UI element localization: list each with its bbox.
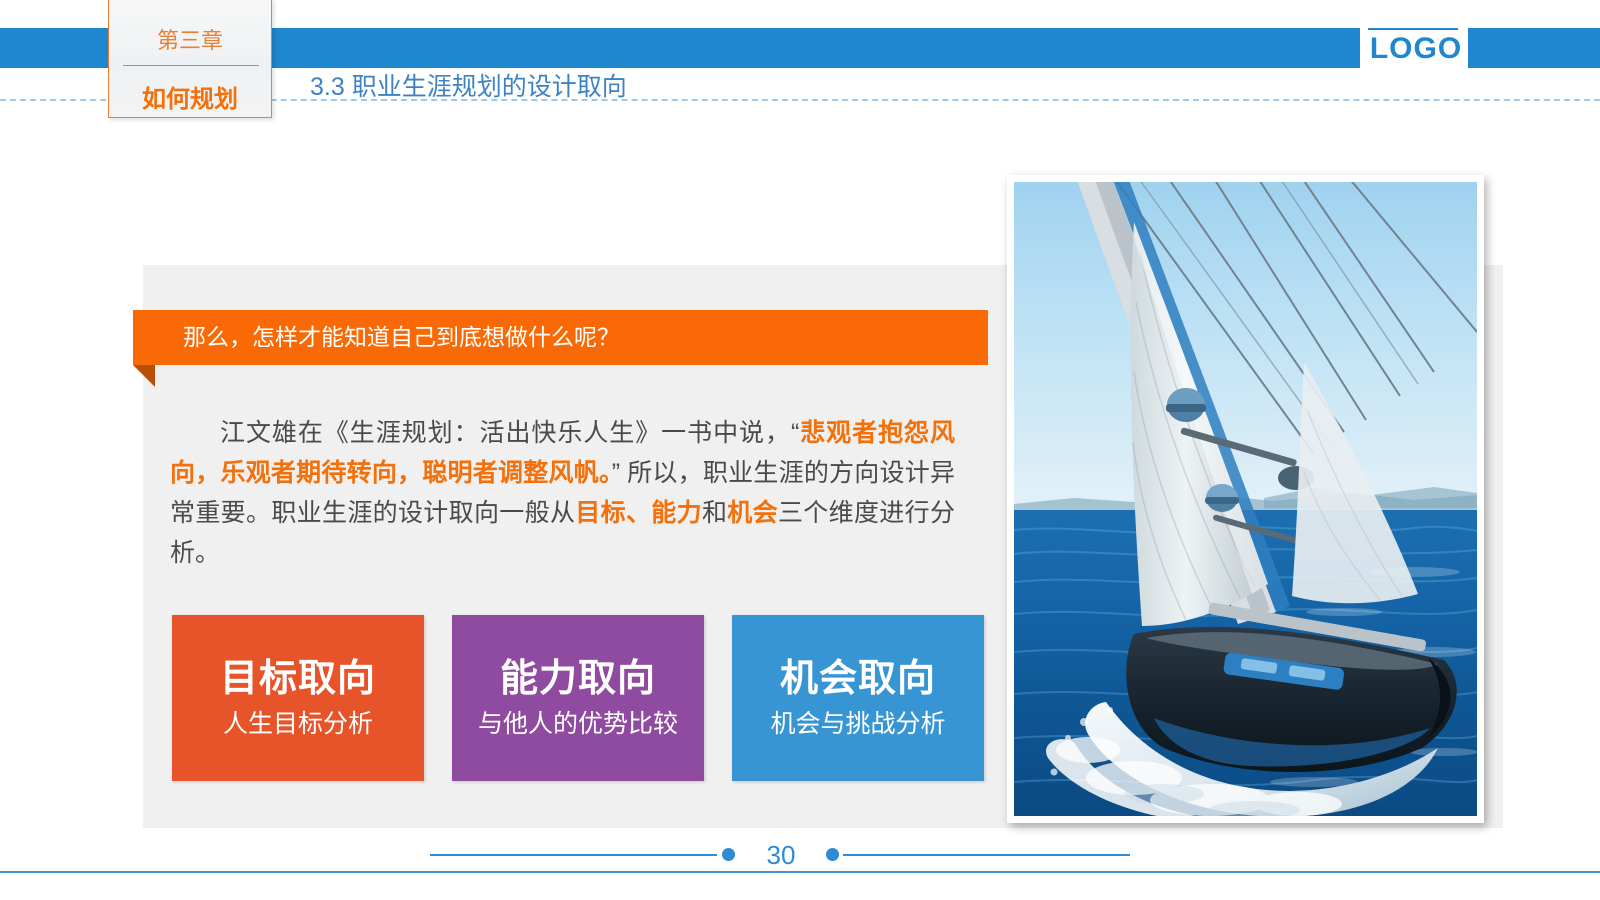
- footer-dot-left: [722, 848, 735, 861]
- orientation-card-1[interactable]: 目标取向人生目标分析: [172, 615, 424, 781]
- body-text-run: 江文雄在《生涯规划：活出快乐人生》一书中说，“: [220, 419, 799, 447]
- page-number: 30: [742, 840, 820, 871]
- footer-line-right: [843, 854, 1130, 856]
- sailboat-illustration: [1014, 182, 1477, 816]
- orientation-card-subtitle: 机会与挑战分析: [770, 708, 945, 740]
- orientation-card-subtitle: 与他人的优势比较: [478, 708, 678, 740]
- header-blue-bar-right-segment-b: [1468, 28, 1600, 68]
- chapter-tab-title-label: 如何规划: [109, 79, 271, 114]
- orientation-card-2[interactable]: 能力取向与他人的优势比较: [452, 615, 704, 781]
- body-highlight-run: 机会: [727, 499, 778, 527]
- orientation-card-title: 目标取向: [220, 656, 376, 702]
- orientation-card-title: 能力取向: [500, 656, 656, 702]
- orientation-card-list: 目标取向人生目标分析能力取向与他人的优势比较机会取向机会与挑战分析: [172, 615, 987, 781]
- orientation-card-3[interactable]: 机会取向机会与挑战分析: [732, 615, 984, 781]
- chapter-tab[interactable]: 第三章 如何规划: [108, 0, 272, 118]
- question-banner-label: 那么，怎样才能知道自己到底想做什么呢？: [183, 310, 620, 365]
- sailboat-photo: [1007, 175, 1484, 823]
- question-banner: 那么，怎样才能知道自己到底想做什么呢？: [133, 310, 988, 365]
- footer-rule: [0, 871, 1600, 873]
- body-text-run: 和: [702, 499, 727, 527]
- chapter-tab-number-label: 第三章: [109, 23, 271, 55]
- body-paragraph: 江文雄在《生涯规划：活出快乐人生》一书中说，“悲观者抱怨风向，乐观者期待转向，聪…: [170, 413, 955, 573]
- footer-dot-right: [826, 848, 839, 861]
- orientation-card-subtitle: 人生目标分析: [223, 708, 373, 740]
- orientation-card-title: 机会取向: [780, 656, 936, 702]
- section-title: 3.3 职业生涯规划的设计取向: [310, 67, 627, 103]
- logo: LOGO: [1366, 30, 1466, 68]
- footer-line-left: [430, 854, 717, 856]
- body-highlight-run: 目标、能力: [575, 499, 702, 527]
- chapter-tab-divider: [123, 65, 259, 66]
